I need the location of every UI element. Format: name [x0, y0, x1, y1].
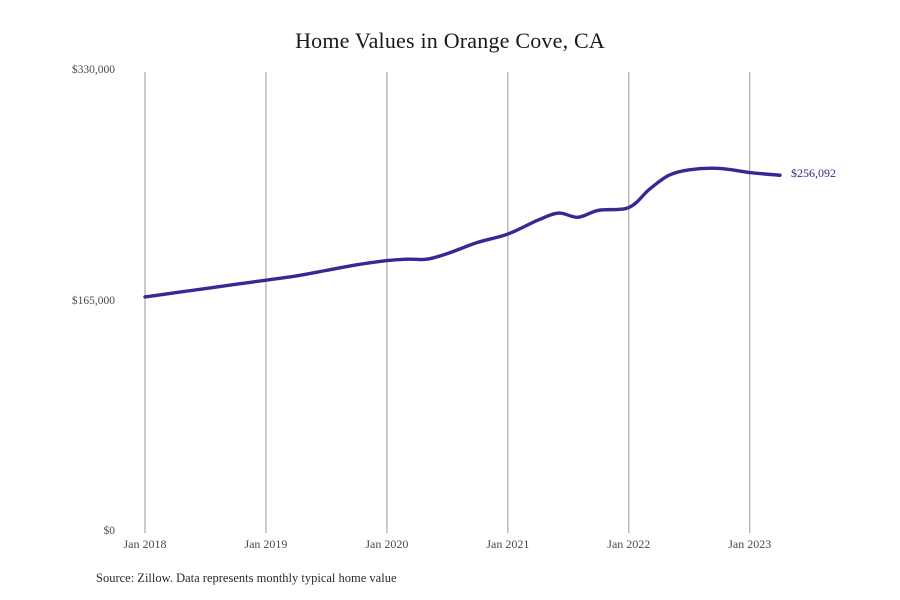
chart-container: Home Values in Orange Cove, CA $0$165,00… [0, 0, 900, 600]
gridline-group [145, 72, 750, 533]
x-tick-label-2: Jan 2020 [327, 537, 447, 552]
end-value-label: $256,092 [791, 166, 836, 181]
x-tick-label-4: Jan 2022 [569, 537, 689, 552]
y-tick-label-1: $165,000 [72, 295, 115, 307]
x-tick-label-5: Jan 2023 [690, 537, 810, 552]
series-line-typical-home-value [145, 168, 780, 297]
y-tick-label-2: $330,000 [72, 64, 115, 76]
chart-plot-area [0, 0, 900, 600]
x-tick-label-3: Jan 2021 [448, 537, 568, 552]
x-tick-label-1: Jan 2019 [206, 537, 326, 552]
y-tick-label-0: $0 [104, 525, 116, 537]
x-tick-label-0: Jan 2018 [85, 537, 205, 552]
source-note: Source: Zillow. Data represents monthly … [96, 571, 397, 586]
